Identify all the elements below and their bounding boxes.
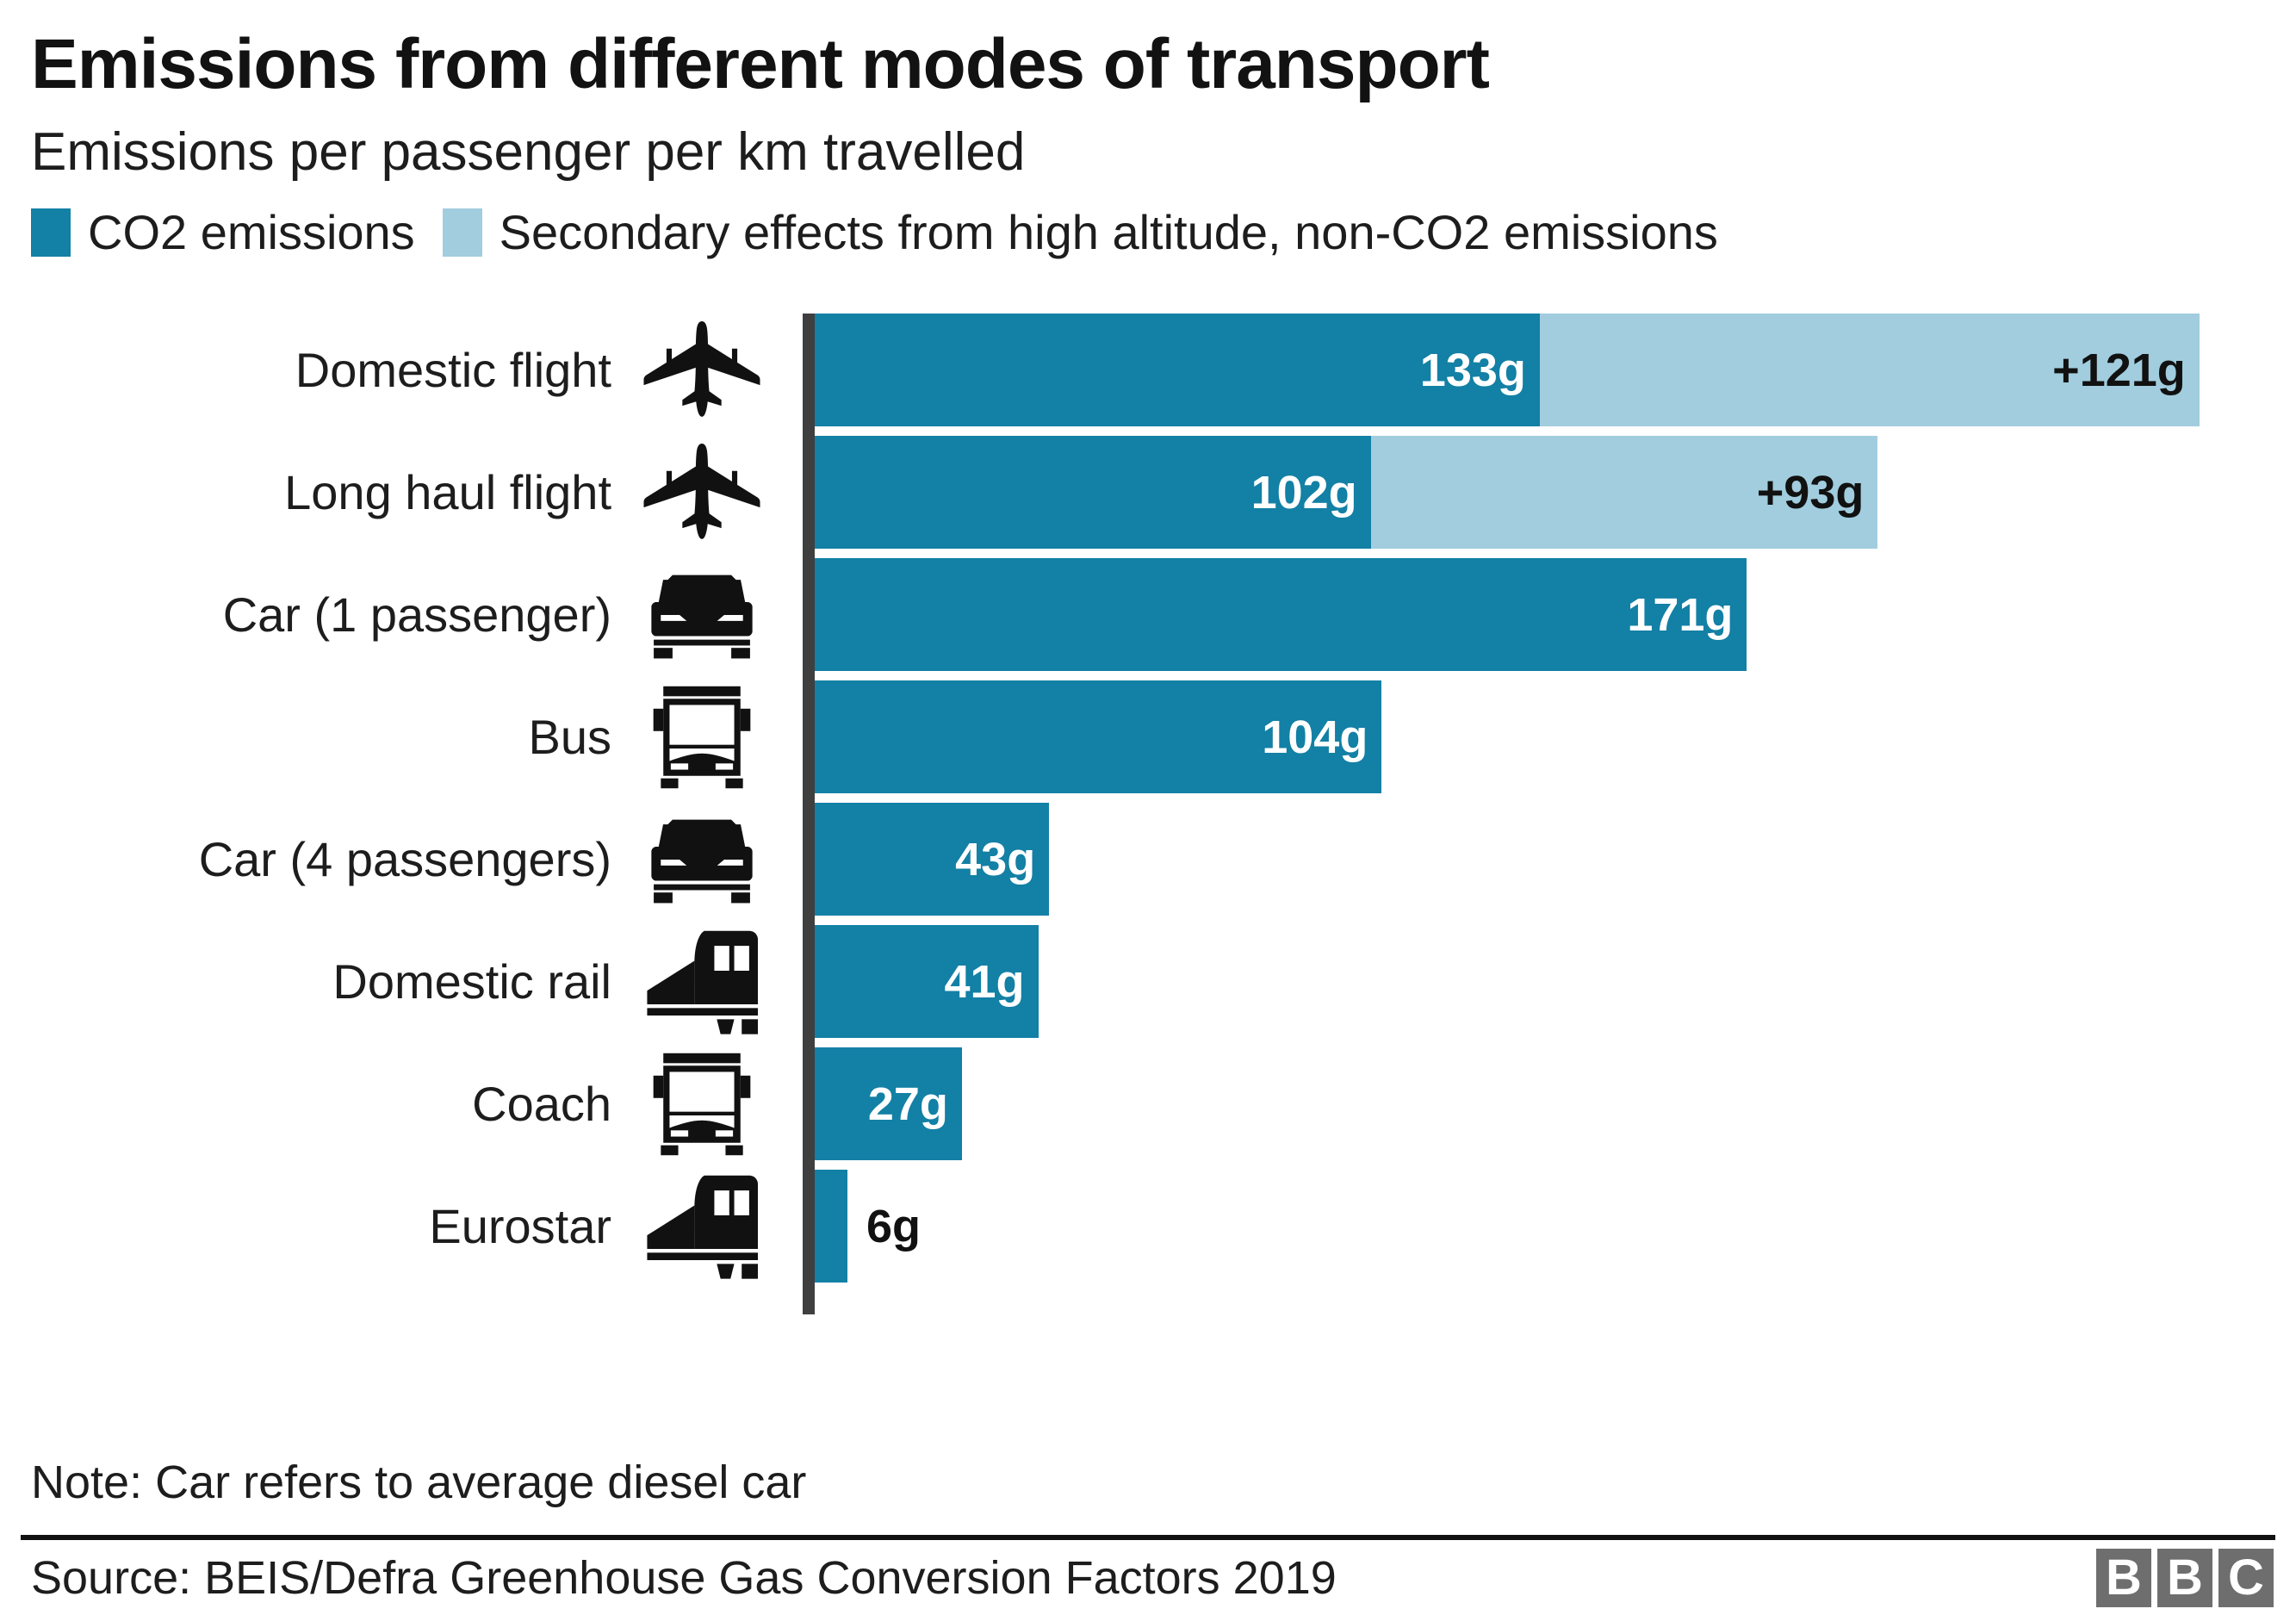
train-icon [629,925,775,1038]
bar-value-secondary: +93g [1757,469,1878,516]
train-icon [629,1170,775,1283]
chart-note: Note: Car refers to average diesel car [31,1459,806,1506]
bar-row-label: Bus [0,713,611,761]
legend-item-co2: CO2 emissions [31,208,415,257]
bar-value-primary: 41g [944,959,1038,1005]
bar-row: Car (1 passenger)171g [0,558,2296,671]
bar-rows: Domestic flight133g+121gLong haul flight… [0,314,2296,1283]
bar-stack: 133g+121g [815,314,2200,426]
bar-row: Domestic flight133g+121g [0,314,2296,426]
bar-value-primary: 27g [868,1081,962,1127]
bar-segment-primary: 43g [815,803,1049,916]
bar-row: Car (4 passengers)43g [0,803,2296,916]
bar-row-label: Domestic rail [0,958,611,1006]
bar-row: Coach27g [0,1047,2296,1160]
legend-label-secondary: Secondary effects from high altitude, no… [500,208,1718,257]
plane-icon [629,436,775,549]
chart-source: Source: BEIS/Defra Greenhouse Gas Conver… [31,1555,1337,1601]
bar-value-secondary: +121g [2052,347,2200,394]
bar-row: Bus104g [0,680,2296,793]
bar-row: Eurostar6g [0,1170,2296,1283]
bar-row-label: Long haul flight [0,469,611,517]
chart-header: Emissions from different modes of transp… [0,0,2296,257]
bar-row-label: Car (4 passengers) [0,835,611,884]
bus-icon [629,1047,775,1160]
bar-value-primary: 43g [955,836,1049,883]
chart-plot-area: Domestic flight133g+121gLong haul flight… [0,307,2296,1323]
footer-divider [21,1535,2275,1540]
bar-row: Long haul flight102g+93g [0,436,2296,549]
bar-value-primary: 171g [1627,592,1747,638]
bbc-logo: B B C [2096,1549,2274,1607]
bar-segment-secondary: +93g [1371,436,1878,549]
legend-swatch-secondary-icon [443,208,482,257]
bar-stack: 27g [815,1047,962,1160]
chart-legend: CO2 emissions Secondary effects from hig… [31,208,2265,257]
page-title: Emissions from different modes of transp… [31,29,2265,100]
bar-segment-primary: 102g [815,436,1371,549]
bar-stack: 104g [815,680,1381,793]
car-icon [629,803,775,916]
bar-value-primary: 6g [847,1170,921,1283]
bar-value-primary: 102g [1251,469,1371,516]
bar-row-label: Domestic flight [0,346,611,394]
bar-row-label: Car (1 passenger) [0,591,611,639]
bar-value-primary: 133g [1420,347,1540,394]
bar-row-label: Coach [0,1080,611,1128]
bar-stack: 102g+93g [815,436,1877,549]
bar-segment-primary [815,1170,847,1283]
bbc-logo-letter: B [2157,1549,2212,1607]
legend-swatch-primary-icon [31,208,71,257]
bbc-logo-letter: C [2218,1549,2274,1607]
bar-stack [815,1170,847,1283]
bus-icon [629,680,775,793]
bar-stack: 171g [815,558,1747,671]
bar-segment-primary: 41g [815,925,1039,1038]
car-icon [629,558,775,671]
bar-row-label: Eurostar [0,1202,611,1251]
bar-row: Domestic rail41g [0,925,2296,1038]
bar-value-primary: 104g [1262,714,1381,761]
chart-subtitle: Emissions per passenger per km travelled [31,126,2265,179]
legend-item-secondary: Secondary effects from high altitude, no… [443,208,1718,257]
bbc-logo-letter: B [2096,1549,2151,1607]
bar-segment-secondary: +121g [1540,314,2200,426]
bar-segment-primary: 171g [815,558,1747,671]
bar-segment-primary: 133g [815,314,1540,426]
bar-stack: 41g [815,925,1039,1038]
bar-segment-primary: 104g [815,680,1381,793]
plane-icon [629,314,775,426]
bar-segment-primary: 27g [815,1047,962,1160]
legend-label-co2: CO2 emissions [88,208,415,257]
bar-stack: 43g [815,803,1049,916]
